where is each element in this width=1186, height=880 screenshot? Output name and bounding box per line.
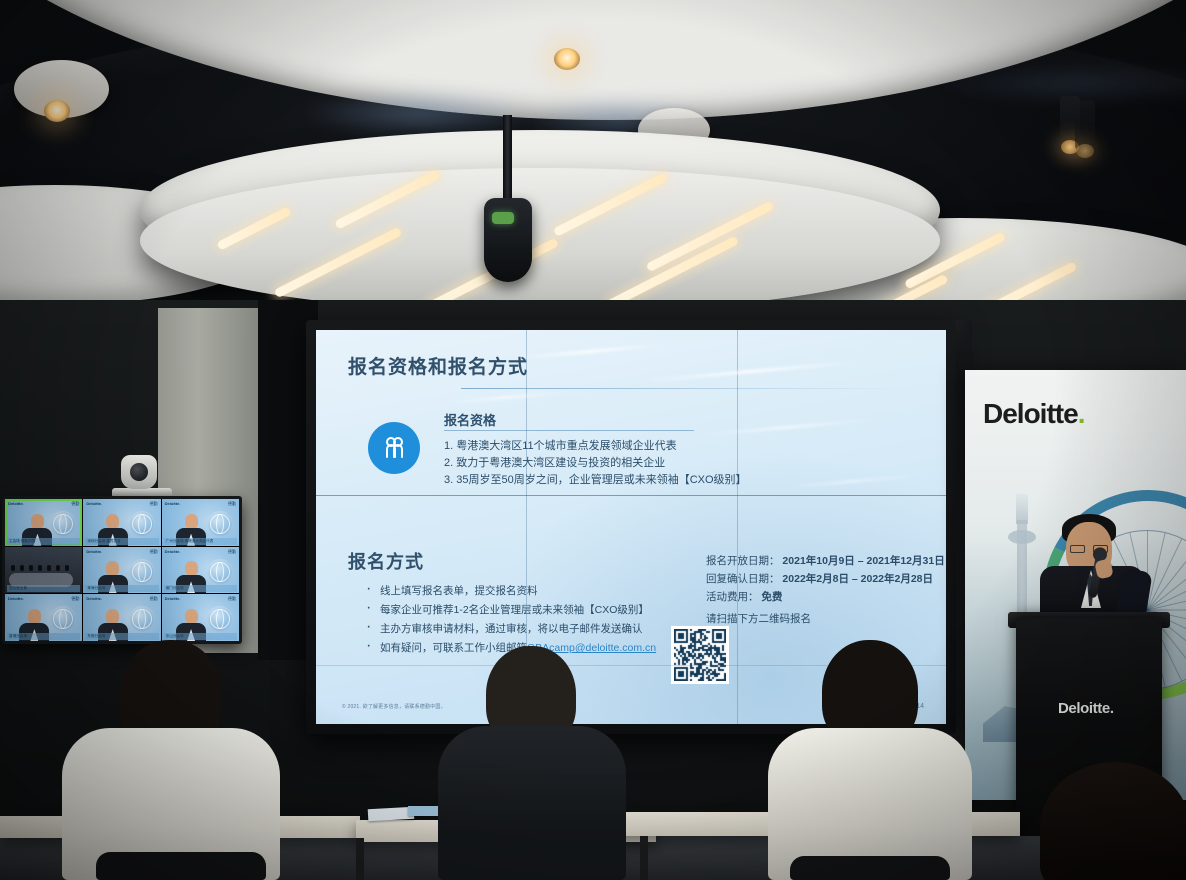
chair — [790, 856, 950, 880]
tile-logo: Deloitte. — [8, 501, 24, 506]
tile-logo: Deloitte. — [86, 596, 102, 601]
podium-logo: Deloitte. — [1058, 700, 1114, 717]
qr-canvas — [674, 629, 726, 681]
method-item: 每家企业可推荐1-2名企业管理层或未来领袖【CXO级别】 — [364, 601, 724, 620]
head — [1040, 762, 1186, 880]
conference-room-photo: 报名资格和报名方式 报名资格 1. 粤港澳大湾区11个城市重点发展领域企业代表 … — [0, 0, 1186, 880]
projector-lens-icon — [492, 212, 514, 224]
meeting-room-attendee — [11, 565, 15, 571]
meeting-room-attendee — [56, 565, 60, 571]
ceiling-projector — [484, 198, 532, 282]
tile-tag: 德勤 — [71, 596, 79, 602]
video-conference-grid[interactable]: Deloitte.德勤主会场 德勤中国Deloitte.德勤深圳分会场 嘉宾发言… — [2, 496, 242, 644]
grid-tile-5[interactable]: Deloitte.德勤澳门分会场 — [162, 547, 239, 594]
slide-title: 报名资格和报名方式 — [348, 352, 528, 379]
method-item-label: 如有疑问，可联系工作小组邮箱 — [380, 642, 527, 654]
tile-label: 中山分会场 — [164, 633, 237, 640]
tile-logo: Deloitte. — [165, 501, 181, 506]
grid-tile-6[interactable]: Deloitte.德勤香港分会场 — [5, 594, 82, 641]
tile-label: 珠海分会场 — [85, 585, 158, 592]
tile-tag: 德勤 — [71, 501, 79, 507]
meeting-room-attendee — [65, 565, 69, 571]
ceiling-disc-main — [140, 168, 940, 313]
method-list: 线上填写报名表单，提交报名资料 每家企业可推荐1-2名企业管理层或未来领袖【CX… — [364, 582, 724, 658]
qualification-item: 2. 致力于粤港澳大湾区建设与投资的相关企业 — [444, 455, 914, 472]
meta-label: 报名开放日期： — [706, 555, 780, 567]
grid-tile-7[interactable]: Deloitte.德勤东莞分会场 — [83, 594, 160, 641]
tile-tag: 德勤 — [150, 596, 158, 602]
method-item: 线上填写报名表单，提交报名资料 — [364, 582, 724, 601]
podium-logo-dot: . — [1110, 700, 1114, 717]
ceiling — [0, 0, 1186, 330]
meta-value: 2021年10月9日 – 2021年12月31日 — [782, 555, 944, 567]
tile-tag: 德勤 — [150, 501, 158, 507]
tile-tag: 德勤 — [228, 596, 236, 602]
camera-lens-icon — [130, 463, 148, 481]
banner-logo-dot: . — [1078, 398, 1085, 429]
tile-label: 澳门分会场 — [164, 585, 237, 592]
downlight — [44, 100, 70, 122]
qualification-item: 1. 粤港澳大湾区11个城市重点发展领域企业代表 — [444, 438, 914, 455]
torso — [438, 726, 626, 880]
globe-icon — [129, 511, 155, 537]
two-people-icon — [368, 422, 420, 474]
globe-icon — [207, 559, 233, 585]
method-heading: 报名方式 — [348, 548, 424, 574]
qualification-underline — [444, 430, 694, 431]
table-leg — [640, 836, 648, 880]
banner-logo: Deloitte. — [983, 398, 1084, 430]
chair — [96, 852, 266, 880]
slide-footer: © 2021. 欲了解更多信息，请联系德勤中国。 — [342, 703, 446, 710]
globe-icon — [129, 559, 155, 585]
grid-tile-2[interactable]: Deloitte.德勤广州分会场 粤港澳大湾区代表 — [162, 499, 239, 546]
tile-logo: Deloitte. — [165, 549, 181, 554]
tile-label: 香港分会场 — [7, 633, 80, 640]
globe-icon — [129, 606, 155, 632]
globe-icon — [50, 606, 76, 632]
meta-label: 活动费用： — [706, 591, 759, 603]
grid-container: Deloitte.德勤主会场 德勤中国Deloitte.德勤深圳分会场 嘉宾发言… — [5, 499, 239, 641]
grid-tile-3[interactable]: 会议室全景 — [5, 547, 82, 594]
table-leg — [356, 838, 364, 880]
globe-icon — [207, 511, 233, 537]
tile-tag: 德勤 — [228, 501, 236, 507]
tile-tag: 德勤 — [228, 549, 236, 555]
meta-label: 回复确认日期： — [706, 573, 780, 585]
meta-row: 报名开放日期： 2021年10月9日 – 2021年12月31日 — [706, 552, 945, 570]
meta-row: 回复确认日期： 2022年2月8日 – 2022年2月28日 — [706, 570, 945, 588]
meta-value: 免费 — [761, 591, 782, 603]
meeting-room-attendee — [29, 565, 33, 571]
meeting-room-attendee — [20, 565, 24, 571]
tile-logo: Deloitte. — [86, 549, 102, 554]
grid-tile-0[interactable]: Deloitte.德勤主会场 德勤中国 — [5, 499, 82, 546]
meta-value: 2022年2月8日 – 2022年2月28日 — [782, 573, 933, 585]
registration-meta: 报名开放日期： 2021年10月9日 – 2021年12月31日 回复确认日期：… — [706, 552, 945, 628]
tile-logo: Deloitte. — [86, 501, 102, 506]
printed-handout — [408, 806, 442, 816]
tile-label: 主会场 德勤中国 — [7, 538, 80, 545]
meeting-room-attendee — [38, 565, 42, 571]
grid-tile-4[interactable]: Deloitte.德勤珠海分会场 — [83, 547, 160, 594]
banner-logo-text: Deloitte — [983, 398, 1078, 429]
tile-label: 东莞分会场 — [85, 633, 158, 640]
grid-tile-8[interactable]: Deloitte.德勤中山分会场 — [162, 594, 239, 641]
globe-icon — [207, 606, 233, 632]
tile-logo: Deloitte. — [8, 596, 24, 601]
registration-qr-code[interactable] — [671, 626, 729, 684]
tile-label: 广州分会场 粤港澳大湾区代表 — [164, 538, 237, 545]
grid-tile-1[interactable]: Deloitte.德勤深圳分会场 嘉宾发言 — [83, 499, 160, 546]
tile-logo: Deloitte. — [165, 596, 181, 601]
meta-row: 活动费用： 免费 — [706, 588, 945, 606]
tile-tag: 德勤 — [150, 549, 158, 555]
meeting-room-attendee — [47, 565, 51, 571]
tile-label: 会议室全景 — [7, 585, 80, 592]
method-item: 主办方审核申请材料，通过审核，将以电子邮件发送确认 — [364, 620, 724, 639]
pendant-light — [1075, 100, 1095, 150]
globe-icon — [50, 511, 76, 537]
qr-prompt: 请扫描下方二维码报名 — [706, 610, 945, 628]
qualification-heading: 报名资格 — [444, 410, 496, 429]
downlight — [554, 48, 580, 70]
podium-logo-text: Deloitte — [1058, 700, 1110, 717]
tile-label: 深圳分会场 嘉宾发言 — [85, 538, 158, 545]
